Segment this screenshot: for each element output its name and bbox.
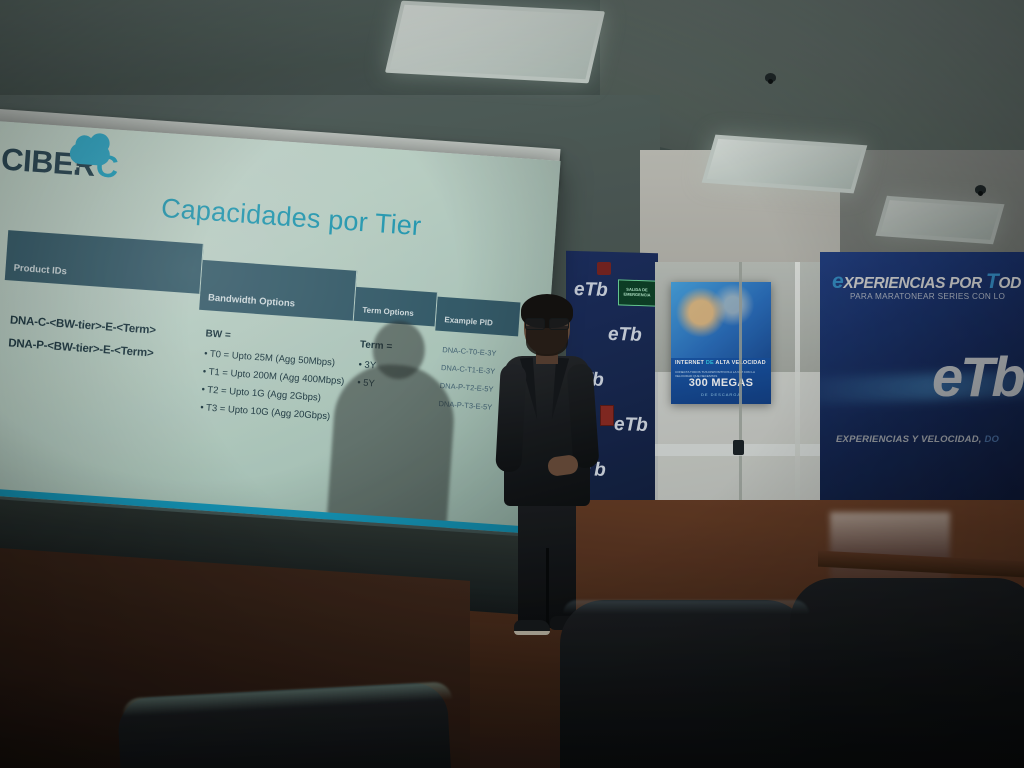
cell-bandwidth-options: BW = T0 = Upto 25M (Agg 50Mbps) T1 = Upt…	[191, 328, 352, 431]
chair-highlight	[563, 600, 809, 614]
audience-chair	[560, 600, 810, 768]
cell-product-ids: DNA-C-<BW-tier>-E-<Term> DNA-P-<BW-tier>…	[0, 314, 198, 420]
door-handle[interactable]	[733, 440, 744, 455]
tv-big-number: 300 MEGAS	[671, 377, 771, 389]
bandwidth-option: T1 = Upto 200M (Agg 400Mbps)	[202, 366, 341, 387]
etb-logo-mark: eTb	[614, 414, 648, 437]
tv-photo-background	[671, 282, 771, 358]
product-id-value: DNA-C-<BW-tier>-E-<Term>	[9, 314, 189, 339]
bandwidth-option: T0 = Upto 25M (Agg 50Mbps)	[204, 348, 343, 369]
slide-title: Capacidades por Tier	[160, 193, 422, 242]
audience-chair	[790, 578, 1024, 768]
tv-small-line: DE DESCARGA	[671, 392, 771, 397]
sprinkler-icon	[765, 73, 776, 82]
product-id-value: DNA-P-<BW-tier>-E-<Term>	[8, 337, 188, 362]
bandwidth-label: BW =	[205, 328, 344, 349]
emergency-exit-sign: SALIDA DE EMERGENCIA	[618, 279, 656, 306]
fire-alarm-icon	[597, 262, 611, 275]
tv-headline: INTERNET DE ALTA VELOCIDAD	[675, 360, 767, 366]
sprinkler-icon	[975, 185, 986, 194]
column-header-bandwidth-options: Bandwidth Options	[199, 260, 357, 321]
presenter-beard	[526, 326, 568, 356]
presenter	[492, 298, 602, 648]
conference-room-photo: eTb eTb eTb eTb eTb eTb SALIDA DE EMERGE…	[0, 0, 1024, 768]
glasses-icon	[524, 318, 570, 328]
etb-logo-mark: eTb	[608, 324, 642, 347]
presenter-leg-gap	[546, 548, 549, 630]
presenter-shoe-sole	[514, 631, 550, 635]
bandwidth-option: T2 = Upto 1G (Agg 2Gbps)	[201, 384, 340, 405]
column-header-product-ids: Product IDs	[5, 230, 204, 294]
ceiling-light-panel	[385, 1, 605, 84]
tv-display: INTERNET DE ALTA VELOCIDAD CONECTA TODOS…	[671, 282, 771, 404]
plus-icon: +	[71, 158, 80, 173]
bandwidth-option: T3 = Upto 10G (Agg 20Gbps)	[200, 402, 339, 423]
ciberc-logo: CIBER C +	[0, 143, 119, 182]
fire-alarm-pull-station-icon	[600, 405, 614, 426]
ceiling-light-panel	[875, 196, 1004, 244]
